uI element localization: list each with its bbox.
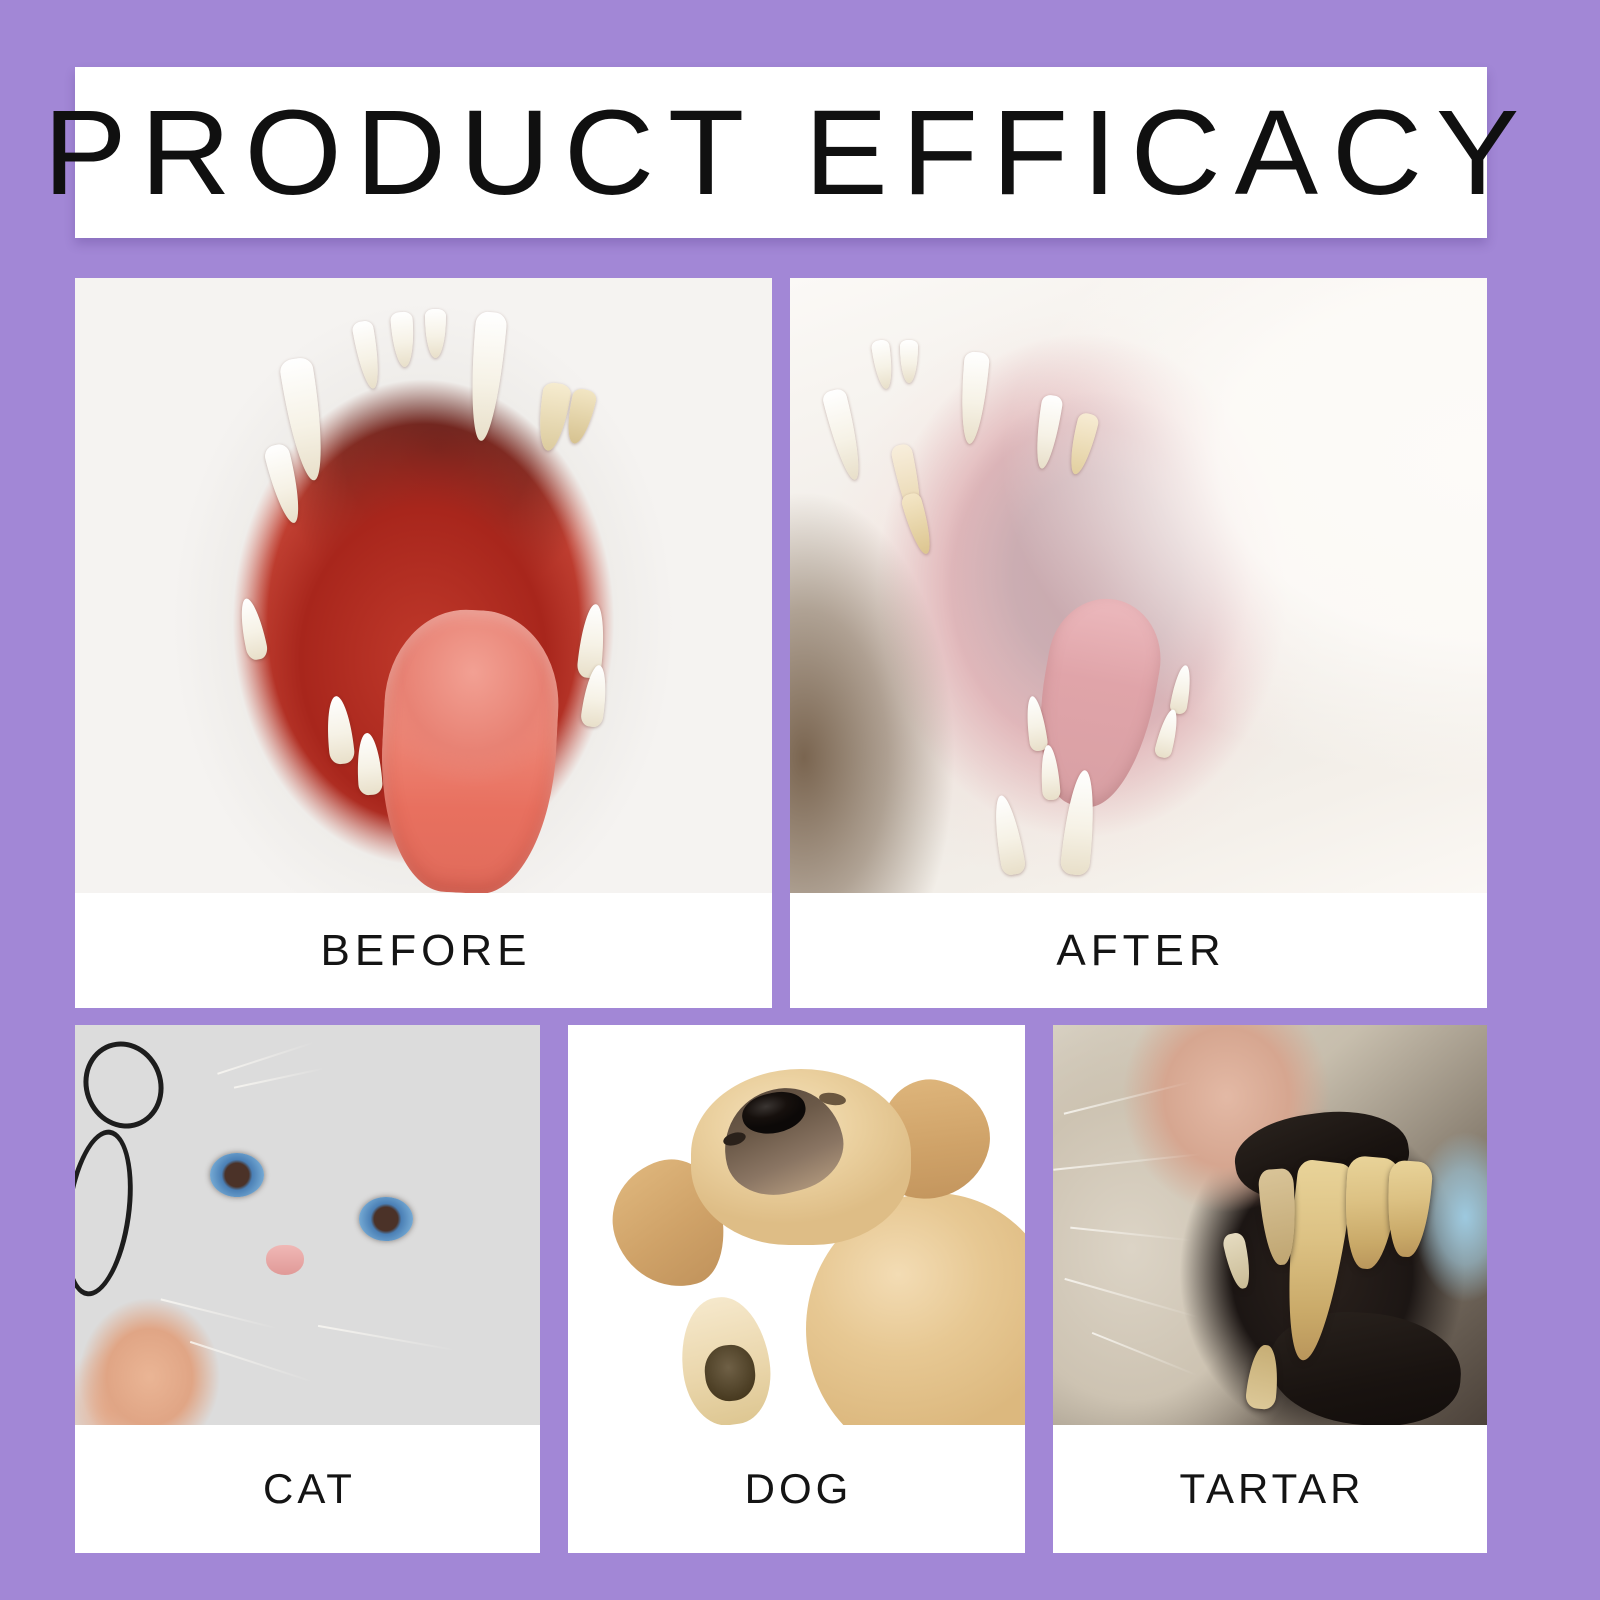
snowshoe-cat-held-photo (75, 1025, 540, 1425)
card-label-dog-text: DOG (741, 1468, 853, 1510)
application-card-tartar[interactable]: TARTAR (1053, 1025, 1487, 1553)
cat-mouth-healthy-gums-photo (790, 278, 1487, 893)
card-label-tartar: TARTAR (1053, 1425, 1487, 1553)
page-title: PRODUCT EFFICACY (29, 92, 1533, 212)
card-label-dog: DOG (568, 1425, 1025, 1553)
card-label-before: BEFORE (75, 893, 772, 1008)
comparison-card-after[interactable]: AFTER (790, 278, 1487, 1008)
card-label-after-text: AFTER (1051, 929, 1225, 973)
card-label-cat-text: CAT (259, 1468, 356, 1510)
card-label-tartar-text: TARTAR (1175, 1468, 1364, 1510)
tartar-buildup-teeth-photo (1053, 1025, 1487, 1425)
golden-puppy-scratching-photo (568, 1025, 1025, 1425)
card-label-before-text: BEFORE (316, 929, 532, 973)
comparison-card-before[interactable]: BEFORE (75, 278, 772, 1008)
cat-mouth-inflamed-gums-photo (75, 278, 772, 893)
card-label-after: AFTER (790, 893, 1487, 1008)
page-title-bar: PRODUCT EFFICACY (75, 67, 1487, 238)
application-card-dog[interactable]: DOG (568, 1025, 1025, 1553)
application-card-cat[interactable]: CAT (75, 1025, 540, 1553)
card-label-cat: CAT (75, 1425, 540, 1553)
